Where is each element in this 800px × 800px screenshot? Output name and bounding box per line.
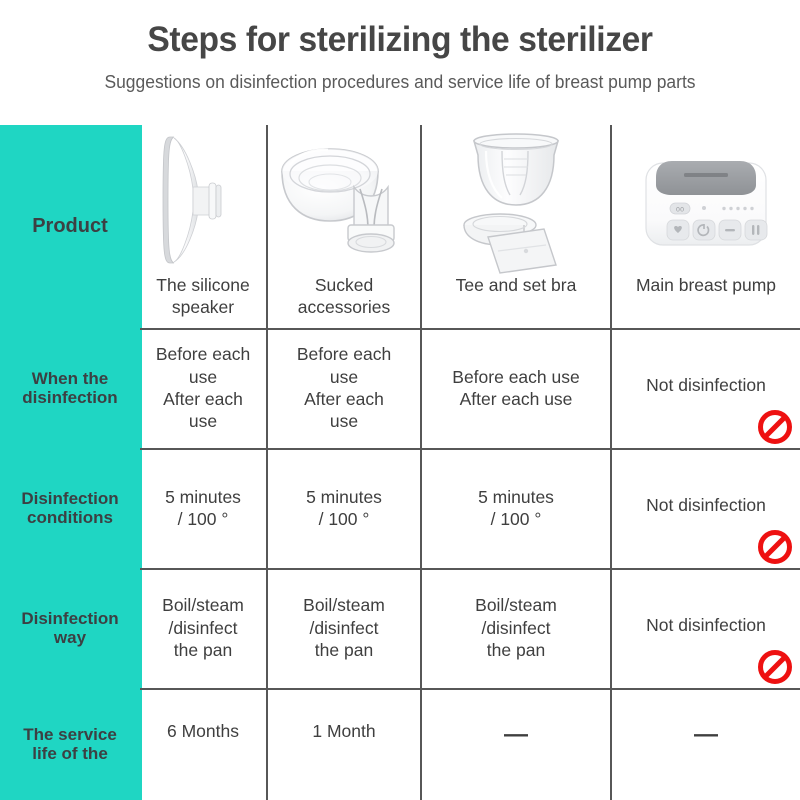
breast-shield-flange-icon xyxy=(140,125,266,275)
breast-pump-motor-unit-icon: 00 xyxy=(612,125,800,275)
cell-text: Before each use After each use xyxy=(156,343,250,433)
prohibited-icon xyxy=(758,530,792,564)
cell-conditions-main-breast-pump: Not disinfection xyxy=(612,448,800,568)
product-label-sucked-accessories: Sucked accessories xyxy=(294,275,394,319)
sterilization-table: Product When the disinfection Disinfecti… xyxy=(0,125,800,800)
cell-life-silicone-speaker: 6 Months xyxy=(140,688,266,800)
prohibited-icon xyxy=(758,410,792,444)
row-label-service-life: The service life of the xyxy=(0,688,140,800)
cell-when-tee-and-set-bra: Before each use After each use xyxy=(422,328,610,448)
product-label-silicone-speaker: The silicone speaker xyxy=(152,275,253,319)
cell-conditions-tee-and-set-bra: 5 minutes / 100 ° xyxy=(422,448,610,568)
product-cell-tee-and-set-bra: Tee and set bra xyxy=(422,125,610,328)
cell-life-main-breast-pump: — xyxy=(612,688,800,800)
cell-text: Boil/steam /disinfect the pan xyxy=(303,594,385,661)
table-grid: The silicone speaker xyxy=(140,125,800,800)
cell-when-main-breast-pump: Not disinfection xyxy=(612,328,800,448)
cell-text: Before each use After each use xyxy=(297,343,391,433)
cell-conditions-sucked-accessories: 5 minutes / 100 ° xyxy=(268,448,420,568)
cell-life-sucked-accessories: 1 Month xyxy=(268,688,420,800)
infographic-page: Steps for sterilizing the sterilizer Sug… xyxy=(0,0,800,800)
cell-text: 6 Months xyxy=(167,720,239,742)
cell-way-silicone-speaker: Boil/steam /disinfect the pan xyxy=(140,568,266,688)
page-title: Steps for sterilizing the sterilizer xyxy=(16,20,784,60)
row-label-disinfection-conditions: Disinfection conditions xyxy=(0,448,140,568)
cell-text: — xyxy=(504,720,528,751)
cell-way-main-breast-pump: Not disinfection xyxy=(612,568,800,688)
row-label-disinfection-way: Disinfection way xyxy=(0,568,140,688)
cell-text: Not disinfection xyxy=(646,374,766,396)
collection-cup-and-tee-connector-icon xyxy=(422,125,610,275)
cell-text: 5 minutes / 100 ° xyxy=(165,486,241,531)
cell-conditions-silicone-speaker: 5 minutes / 100 ° xyxy=(140,448,266,568)
cell-when-silicone-speaker: Before each use After each use xyxy=(140,328,266,448)
prohibited-icon xyxy=(758,650,792,684)
product-cell-sucked-accessories: Sucked accessories xyxy=(268,125,420,328)
header: Steps for sterilizing the sterilizer Sug… xyxy=(0,0,800,125)
silicone-diaphragm-and-duckbill-valve-icon xyxy=(268,125,420,275)
product-label-tee-and-set-bra: Tee and set bra xyxy=(452,275,581,297)
cell-life-tee-and-set-bra: — xyxy=(422,688,610,800)
cell-way-tee-and-set-bra: Boil/steam /disinfect the pan xyxy=(422,568,610,688)
cell-text: — xyxy=(694,720,718,751)
row-label-product: Product xyxy=(0,125,140,328)
cell-when-sucked-accessories: Before each use After each use xyxy=(268,328,420,448)
page-subtitle: Suggestions on disinfection procedures a… xyxy=(12,72,788,93)
row-label-when-the-disinfection: When the disinfection xyxy=(0,328,140,448)
cell-text: Boil/steam /disinfect the pan xyxy=(475,594,557,661)
cell-text: Before each use After each use xyxy=(452,366,579,411)
cell-text: 5 minutes / 100 ° xyxy=(306,486,382,531)
svg-text:00: 00 xyxy=(676,206,684,214)
cell-text: Not disinfection xyxy=(646,614,766,636)
cell-text: 1 Month xyxy=(312,720,375,742)
product-cell-main-breast-pump: 00 xyxy=(612,125,800,328)
cell-text: Not disinfection xyxy=(646,494,766,516)
cell-text: Boil/steam /disinfect the pan xyxy=(162,594,244,661)
cell-text: 5 minutes / 100 ° xyxy=(478,486,554,531)
cell-way-sucked-accessories: Boil/steam /disinfect the pan xyxy=(268,568,420,688)
product-label-main-breast-pump: Main breast pump xyxy=(632,275,780,297)
product-cell-silicone-speaker: The silicone speaker xyxy=(140,125,266,328)
row-label-column: Product When the disinfection Disinfecti… xyxy=(0,125,140,800)
